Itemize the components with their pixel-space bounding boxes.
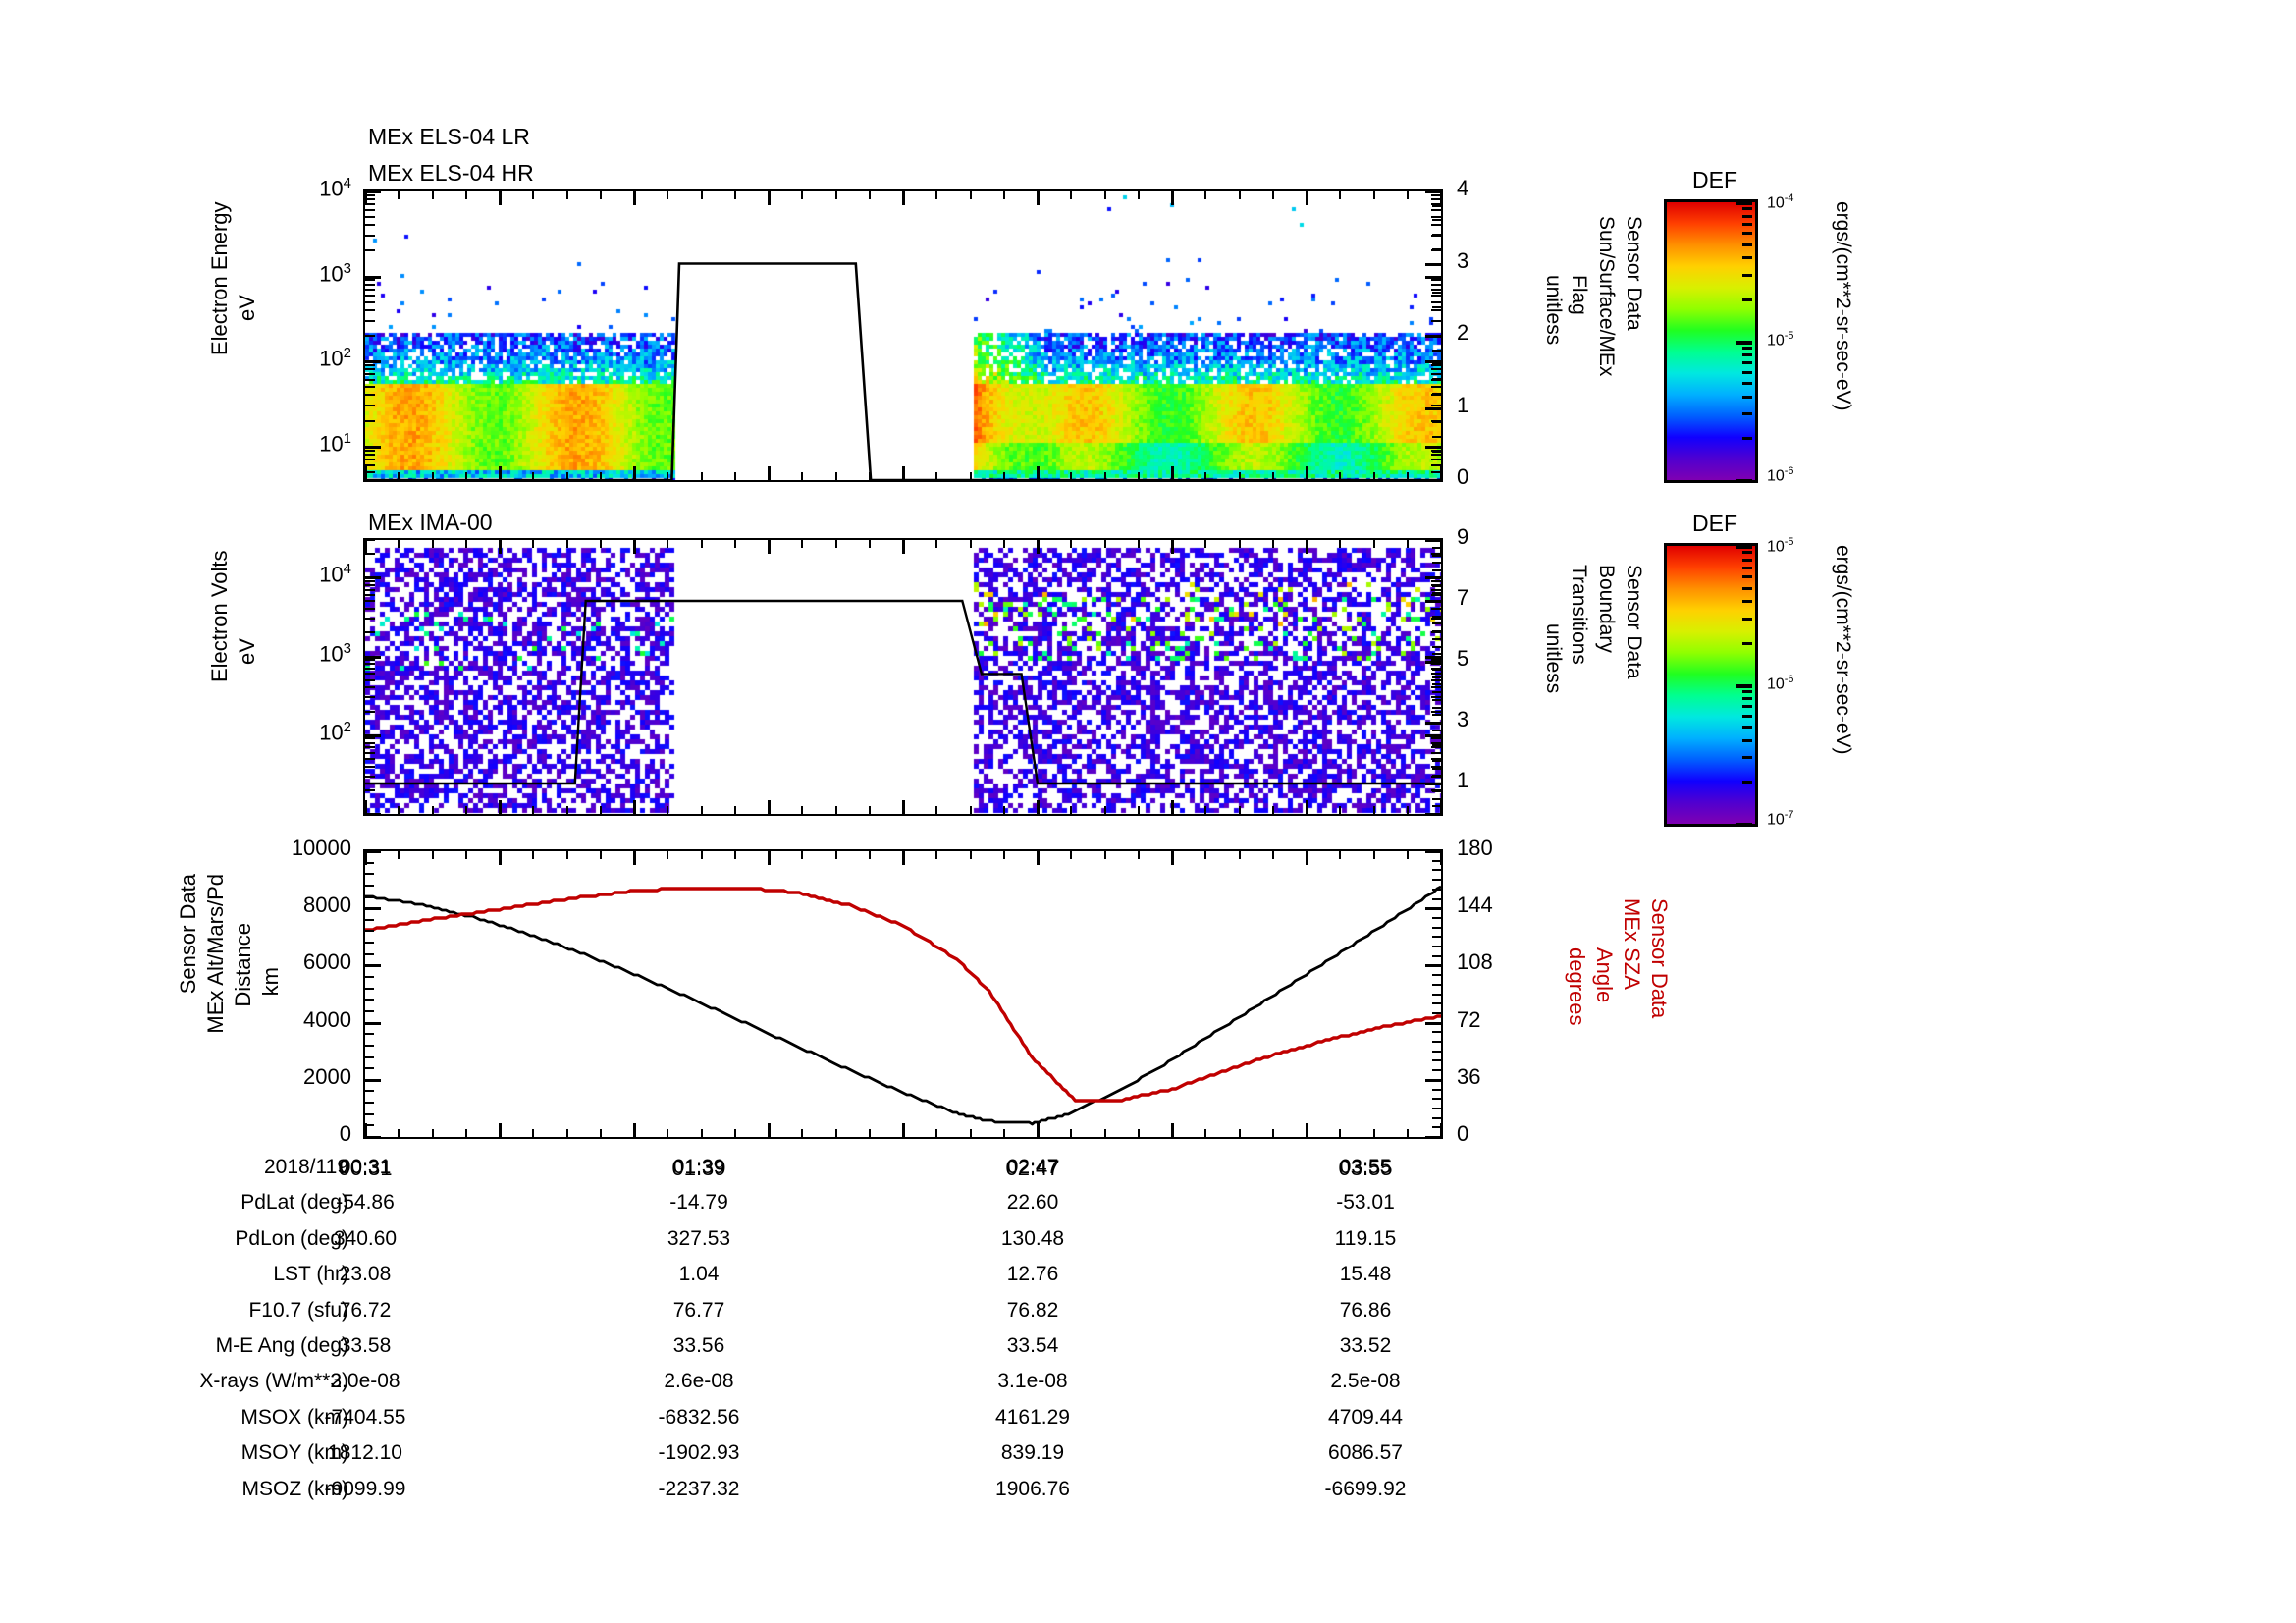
ima-xtick-minor <box>1373 540 1375 548</box>
sza-ytick-minor <box>1432 955 1441 957</box>
ima-ytick-minor <box>365 813 381 816</box>
table-cell: 340.60 <box>277 1227 454 1251</box>
alt-left-ytick-minor <box>365 1067 374 1069</box>
els-xtick-minor <box>1204 472 1206 480</box>
alt-xtick-minor <box>1070 851 1072 859</box>
ima-ytick-right <box>1431 711 1441 713</box>
ima-xtick-minor <box>1104 540 1106 548</box>
els-ytick-label: 103 <box>287 260 351 287</box>
sza-ytick-minor <box>1432 889 1441 891</box>
ima-right-ytick-minor <box>1432 653 1441 655</box>
alt-xtick-bottom <box>1037 1123 1040 1137</box>
els-ytick-right <box>1431 459 1441 460</box>
ima-xtick-minor <box>1070 540 1072 548</box>
ima-xtick-minor <box>532 540 534 548</box>
panel-els-flag-overlay <box>365 191 1441 480</box>
panel-els-title-lr: MEx ELS-04 LR <box>368 124 530 150</box>
ima-xtick-minor <box>566 806 568 814</box>
els-ytick-right <box>1431 284 1441 286</box>
ima-right-ytick <box>1425 783 1441 785</box>
els-right-ytick-minor <box>1432 363 1441 365</box>
table-cell: -6832.56 <box>611 1406 787 1430</box>
els-ytick-right <box>1431 289 1441 291</box>
els-right-ytick-minor <box>1432 451 1441 453</box>
els-xtick-minor <box>970 472 972 480</box>
alt-left-ytick-minor <box>365 1010 374 1012</box>
els-ytick-label: 101 <box>287 430 351 457</box>
sza-ytick-minor <box>1432 1002 1441 1004</box>
xaxis-time-label: 01:39 <box>640 1156 758 1181</box>
alt-xtick-top <box>1037 851 1040 865</box>
ima-xtick-minor <box>869 540 871 548</box>
alt-xtick-minor <box>465 851 467 859</box>
els-ytick-right <box>1431 216 1441 218</box>
ima-xtick-minor <box>970 806 972 814</box>
ima-cb-tick <box>1742 781 1752 784</box>
els-xtick-bottom <box>1171 466 1174 480</box>
els-ytick-minor <box>365 279 375 281</box>
els-cb-tick <box>1736 201 1752 205</box>
ima-ytick-minor <box>365 618 375 620</box>
ima-right-ytick-minor <box>1432 630 1441 632</box>
els-ytick-minor <box>365 386 375 388</box>
els-ytick-right <box>1431 301 1441 303</box>
alt-left-ytick-minor <box>365 1090 374 1092</box>
ima-xtick-minor <box>432 806 434 814</box>
table-cell: 76.86 <box>1277 1299 1454 1323</box>
colorbar-els-mid-label: 10-5 <box>1767 330 1793 350</box>
ima-cb-tick <box>1736 684 1752 688</box>
els-right-ytick-minor <box>1432 248 1441 250</box>
ima-xtick-minor <box>869 806 871 814</box>
els-ytick-right <box>1425 446 1441 449</box>
colorbar-ima-top-label: 10-5 <box>1767 536 1793 556</box>
table-cell: -2237.32 <box>611 1478 787 1501</box>
els-xtick-bottom <box>364 466 367 480</box>
ima-right-ytick-minor <box>1432 730 1441 731</box>
els-xtick-minor <box>600 191 602 199</box>
els-right-ytick-minor <box>1432 234 1441 236</box>
ima-boundary-line <box>365 601 1441 784</box>
ima-xtick-minor <box>970 540 972 548</box>
alt-xtick-minor <box>1003 851 1005 859</box>
ima-ytick-minor <box>365 580 375 582</box>
ima-ytick-minor <box>365 668 375 670</box>
ima-right-ytick-minor <box>1432 638 1441 640</box>
ima-xtick-minor <box>734 540 736 548</box>
els-cb-tick <box>1742 243 1752 246</box>
panel-alt-lines <box>365 851 1441 1137</box>
alt-xtick-minor <box>701 1129 703 1137</box>
ima-ytick-minor <box>365 686 375 688</box>
els-xtick-top <box>499 191 502 205</box>
els-right-ytick-minor <box>1432 421 1441 423</box>
els-ytick-minor <box>365 276 381 279</box>
table-cell: 119.15 <box>1277 1227 1454 1251</box>
ima-ytick-minor <box>365 742 375 744</box>
panel-alt-right-label: Sensor Data MEx SZA Angle degrees <box>1556 864 1683 1144</box>
alt-xtick-minor <box>600 1129 602 1137</box>
sza-ytick <box>1425 850 1441 853</box>
els-ytick-minor <box>365 373 375 375</box>
els-ytick-minor <box>365 420 375 422</box>
alt-xtick-minor <box>1339 851 1341 859</box>
ima-right-ytick-minor <box>1432 714 1441 716</box>
alt-xtick-minor <box>869 1129 871 1137</box>
els-xtick-minor <box>701 191 703 199</box>
alt-left-ytick-minor <box>365 885 374 887</box>
table-cell: 3.0e-08 <box>277 1370 454 1393</box>
els-cb-tick <box>1742 382 1752 385</box>
ima-cb-tick <box>1742 618 1752 621</box>
alt-xtick-bottom <box>1306 1123 1308 1137</box>
sza-ytick-minor <box>1432 1012 1441 1014</box>
ima-xtick-top <box>499 540 502 554</box>
ima-ytick-minor <box>365 776 375 778</box>
ima-xtick-minor <box>1407 806 1409 814</box>
els-cb-tick <box>1742 223 1752 226</box>
els-right-ytick-minor <box>1432 292 1441 294</box>
els-ytick-minor <box>365 320 375 322</box>
alt-xtick-minor <box>801 1129 803 1137</box>
alt-xtick-minor <box>1204 1129 1206 1137</box>
sza-ytick-label: 108 <box>1457 949 1493 975</box>
ima-ytick-right <box>1431 679 1441 681</box>
els-cb-tick <box>1742 256 1752 259</box>
els-cb-tick <box>1742 437 1752 440</box>
els-right-ytick-minor <box>1432 306 1441 308</box>
ima-ytick-right <box>1431 594 1441 596</box>
els-ytick-minor <box>365 301 375 303</box>
ima-right-ytick-minor <box>1432 737 1441 739</box>
table-cell: 33.54 <box>944 1334 1121 1358</box>
ima-right-ytick-label: 7 <box>1457 585 1468 611</box>
table-cell: -1902.93 <box>611 1441 787 1465</box>
els-right-ytick-label: 4 <box>1457 176 1551 201</box>
ima-xtick-minor <box>1104 806 1106 814</box>
panel-ima-right-label: Sensor Data Boundary Transitions unitles… <box>1531 545 1659 820</box>
ima-right-ytick-minor <box>1432 608 1441 610</box>
ima-cb-tick <box>1742 697 1752 700</box>
ima-xtick-minor <box>1138 806 1140 814</box>
table-cell: 1812.10 <box>277 1441 454 1465</box>
els-xtick-bottom <box>1440 466 1443 480</box>
els-ytick-minor <box>365 209 375 211</box>
els-xtick-minor <box>1407 472 1409 480</box>
els-xtick-minor <box>734 191 736 199</box>
els-xtick-minor <box>1239 472 1241 480</box>
els-xtick-minor <box>532 472 534 480</box>
els-xtick-minor <box>398 472 400 480</box>
ima-xtick-minor <box>600 540 602 548</box>
alt-xtick-minor <box>1373 851 1375 859</box>
ima-xtick-bottom <box>1171 800 1174 814</box>
ima-ytick-minor <box>365 679 375 681</box>
els-ytick-right <box>1431 224 1441 226</box>
sza-ytick <box>1425 1022 1441 1025</box>
els-xtick-bottom <box>1306 466 1308 480</box>
alt-left-ytick <box>365 1136 381 1139</box>
table-cell: -14.79 <box>611 1191 787 1215</box>
ima-cb-tick <box>1742 559 1752 562</box>
alt-xtick-minor <box>1272 1129 1274 1137</box>
els-ytick-right <box>1431 386 1441 388</box>
panel-els-ylabel: Electron Energy eV <box>201 201 260 476</box>
els-cb-tick <box>1742 274 1752 277</box>
alt-left-ytick <box>365 1079 381 1082</box>
ima-cb-tick <box>1742 642 1752 645</box>
ima-xtick-minor <box>398 806 400 814</box>
ima-xtick-minor <box>1272 806 1274 814</box>
alt-xtick-bottom <box>499 1123 502 1137</box>
alt-left-ytick-label: 0 <box>257 1121 351 1147</box>
els-xtick-minor <box>1104 472 1106 480</box>
ima-right-ytick-label: 1 <box>1457 768 1468 793</box>
els-ytick-minor <box>365 405 375 406</box>
els-ytick-minor <box>365 394 375 396</box>
sza-ytick <box>1425 907 1441 910</box>
els-xtick-minor <box>667 472 668 480</box>
els-ytick-label: 104 <box>287 175 351 201</box>
els-xtick-top <box>1440 191 1443 205</box>
ima-xtick-minor <box>1138 540 1140 548</box>
alt-left-ytick-label: 10000 <box>257 836 351 861</box>
ima-xtick-minor <box>1339 540 1341 548</box>
xaxis-time-label: 00:31 <box>306 1156 424 1181</box>
els-ytick-minor <box>365 249 375 251</box>
els-ytick-right <box>1431 209 1441 211</box>
alt-xtick-minor <box>1239 1129 1241 1137</box>
ima-right-ytick-minor <box>1432 592 1441 594</box>
els-ytick-right <box>1431 295 1441 297</box>
els-cb-tick <box>1736 341 1752 345</box>
table-cell: 2.6e-08 <box>611 1370 787 1393</box>
sza-ytick-label: 36 <box>1457 1064 1480 1090</box>
alt-xtick-bottom <box>633 1123 636 1137</box>
alt-xtick-bottom <box>902 1123 905 1137</box>
alt-xtick-minor <box>398 1129 400 1137</box>
els-xtick-minor <box>835 472 837 480</box>
table-cell: 23.08 <box>277 1263 454 1286</box>
els-right-ytick <box>1425 479 1441 482</box>
ima-ytick-minor <box>365 766 375 768</box>
ima-right-ytick-minor <box>1432 616 1441 618</box>
alt-left-ytick-minor <box>365 1056 374 1058</box>
ima-xtick-minor <box>801 540 803 548</box>
ima-ytick-right <box>1431 673 1441 675</box>
els-xtick-minor <box>801 472 803 480</box>
alt-xtick-bottom <box>364 1123 367 1137</box>
ima-xtick-bottom <box>1306 800 1308 814</box>
els-xtick-minor <box>600 472 602 480</box>
els-right-ytick-minor <box>1432 219 1441 221</box>
alt-xtick-minor <box>935 1129 937 1137</box>
altitude-line <box>365 887 1441 1124</box>
ima-right-ytick-label: 5 <box>1457 646 1468 672</box>
sza-ytick-label: 72 <box>1457 1007 1480 1033</box>
sza-line <box>365 889 1441 1101</box>
ima-ytick-minor <box>365 789 375 791</box>
ima-ytick-minor <box>365 752 375 754</box>
panel-ima-title: MEx IMA-00 <box>368 510 493 536</box>
alt-left-ytick-minor <box>365 976 374 978</box>
sza-ytick-minor <box>1432 1069 1441 1071</box>
panel-els-title-hr: MEx ELS-04 HR <box>368 160 534 187</box>
alt-xtick-minor <box>1204 851 1206 859</box>
table-cell: 4709.44 <box>1277 1406 1454 1430</box>
ima-ytick-right <box>1431 589 1441 591</box>
ima-cb-tick <box>1742 567 1752 569</box>
els-right-ytick-minor <box>1432 205 1441 207</box>
table-cell: 1906.76 <box>944 1478 1121 1501</box>
table-cell: 33.56 <box>611 1334 787 1358</box>
ima-right-ytick-minor <box>1432 752 1441 754</box>
alt-xtick-minor <box>734 1129 736 1137</box>
sza-ytick-minor <box>1432 1051 1441 1053</box>
alt-xtick-top <box>364 851 367 865</box>
colorbar-els-bot-label: 10-6 <box>1767 465 1793 485</box>
xaxis-time-label: 03:55 <box>1307 1156 1424 1181</box>
alt-xtick-minor <box>1104 1129 1106 1137</box>
ima-xtick-bottom <box>768 800 771 814</box>
els-xtick-minor <box>935 191 937 199</box>
els-ytick-minor <box>365 450 375 452</box>
ima-xtick-top <box>1306 540 1308 554</box>
els-ytick-minor <box>365 335 375 337</box>
xaxis-time-label: 02:47 <box>974 1156 1092 1181</box>
ima-ytick-minor <box>365 600 375 602</box>
els-cb-tick <box>1742 215 1752 218</box>
ima-right-ytick-minor <box>1432 622 1441 624</box>
alt-xtick-minor <box>701 851 703 859</box>
ima-xtick-minor <box>701 806 703 814</box>
ima-right-ytick-minor <box>1432 646 1441 648</box>
els-cb-tick <box>1742 298 1752 301</box>
els-xtick-minor <box>1272 191 1274 199</box>
table-cell: 76.82 <box>944 1299 1121 1323</box>
ima-xtick-minor <box>667 806 668 814</box>
table-cell: 6086.57 <box>1277 1441 1454 1465</box>
sza-ytick-minor <box>1432 974 1441 976</box>
els-xtick-minor <box>566 191 568 199</box>
ima-ytick-minor <box>365 576 381 579</box>
els-xtick-bottom <box>768 466 771 480</box>
els-ytick-right <box>1431 279 1441 281</box>
alt-xtick-minor <box>1339 1129 1341 1137</box>
colorbar-els-unit-label: ergs/(cm**2-sr-sec-eV) <box>1831 201 1854 416</box>
alt-xtick-minor <box>532 851 534 859</box>
sza-ytick-minor <box>1432 936 1441 938</box>
els-xtick-minor <box>801 191 803 199</box>
els-xtick-minor <box>1339 472 1341 480</box>
alt-left-ytick-minor <box>365 919 374 921</box>
alt-xtick-minor <box>869 851 871 859</box>
els-ytick-right <box>1431 309 1441 311</box>
ima-xtick-bottom <box>364 800 367 814</box>
els-ytick-minor <box>365 379 375 381</box>
ima-xtick-minor <box>801 806 803 814</box>
alt-left-ytick-minor <box>365 896 374 898</box>
colorbar-ima-bot-label: 10-7 <box>1767 809 1793 829</box>
alt-left-ytick <box>365 907 381 910</box>
els-ytick-minor <box>365 360 381 363</box>
ima-ytick-minor <box>365 746 375 748</box>
els-xtick-minor <box>1070 472 1072 480</box>
alt-left-ytick <box>365 964 381 967</box>
els-flag-line <box>365 264 1441 481</box>
sza-ytick-minor <box>1432 927 1441 929</box>
ima-xtick-minor <box>835 806 837 814</box>
els-ytick-minor <box>365 224 375 226</box>
els-xtick-minor <box>1003 191 1005 199</box>
ima-cb-tick <box>1742 587 1752 590</box>
alt-xtick-top <box>1171 851 1174 865</box>
ima-right-ytick-minor <box>1432 699 1441 701</box>
alt-xtick-minor <box>566 851 568 859</box>
table-cell: -9099.99 <box>277 1478 454 1501</box>
ima-right-ytick-minor <box>1432 790 1441 792</box>
ima-xtick-minor <box>734 806 736 814</box>
ima-xtick-minor <box>600 806 602 814</box>
ima-cb-tick <box>1742 600 1752 603</box>
alt-xtick-minor <box>970 1129 972 1137</box>
els-xtick-top <box>633 191 636 205</box>
ima-ytick-minor <box>365 584 375 586</box>
els-cb-tick <box>1742 353 1752 356</box>
ima-right-ytick-minor <box>1432 562 1441 564</box>
ima-right-ytick-label: 3 <box>1457 707 1468 732</box>
ima-xtick-minor <box>935 540 937 548</box>
ima-right-ytick-minor <box>1432 775 1441 777</box>
colorbar-els-top-label: 10-4 <box>1767 192 1793 212</box>
els-ytick-minor <box>365 309 375 311</box>
els-xtick-bottom <box>902 466 905 480</box>
table-cell: 839.19 <box>944 1441 1121 1465</box>
table-cell: 76.77 <box>611 1299 787 1323</box>
els-right-ytick <box>1425 190 1441 193</box>
sza-ytick-label: 0 <box>1457 1121 1468 1147</box>
alt-xtick-bottom <box>1440 1123 1443 1137</box>
alt-xtick-top <box>1440 851 1443 865</box>
ima-right-ytick-minor <box>1432 555 1441 557</box>
alt-xtick-minor <box>935 851 937 859</box>
ima-ytick-minor <box>365 711 375 713</box>
ima-ytick-minor <box>365 758 375 760</box>
els-xtick-minor <box>970 191 972 199</box>
alt-xtick-minor <box>835 1129 837 1137</box>
alt-xtick-bottom <box>1171 1123 1174 1137</box>
ima-xtick-minor <box>1003 806 1005 814</box>
alt-left-ytick-minor <box>365 1102 374 1104</box>
ima-right-ytick-minor <box>1432 768 1441 770</box>
els-ytick-right <box>1431 368 1441 370</box>
alt-xtick-minor <box>566 1129 568 1137</box>
ima-cb-tick <box>1742 575 1752 578</box>
table-cell: 12.76 <box>944 1263 1121 1286</box>
els-right-ytick <box>1425 335 1441 338</box>
alt-xtick-top <box>499 851 502 865</box>
els-cb-tick <box>1742 361 1752 364</box>
sza-ytick-minor <box>1432 898 1441 900</box>
els-xtick-bottom <box>633 466 636 480</box>
sza-ytick <box>1425 1136 1441 1139</box>
els-right-ytick-minor <box>1432 350 1441 352</box>
table-cell: 33.52 <box>1277 1334 1454 1358</box>
els-ytick-minor <box>365 235 375 237</box>
els-xtick-minor <box>1407 191 1409 199</box>
ima-xtick-bottom <box>499 800 502 814</box>
els-ytick-minor <box>365 289 375 291</box>
